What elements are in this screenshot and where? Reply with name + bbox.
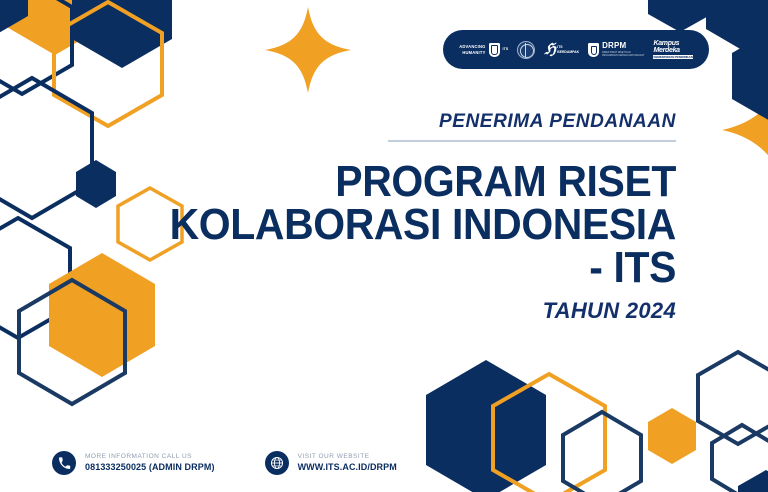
drpm-subtitle: DIREKTORAT RISET DAN PENGABDIAN KEPADA M…	[602, 51, 644, 57]
contact-phone: MORE INFORMATION CALL US 081333250025 (A…	[52, 451, 215, 475]
contact-website-text: VISIT OUR WEBSITE WWW.ITS.AC.ID/DRPM	[298, 453, 397, 474]
hexagon-navy-outline-right-1	[698, 352, 768, 444]
kampus-merdeka-ministry-bar: KEMENTERIAN PENDIDIKAN	[653, 55, 692, 59]
partner-logo-banner: ADVANCING HUMANITY ITS ℌ ITS BERDAMPAK D…	[443, 30, 709, 69]
contact-phone-label: MORE INFORMATION CALL US	[85, 453, 215, 461]
hexagon-orange-solid-bottom-right	[648, 408, 696, 464]
headline-divider	[388, 140, 676, 142]
logo-kampus-merdeka: Kampus Merdeka KEMENTERIAN PENDIDIKAN	[653, 40, 692, 60]
phone-icon	[52, 451, 76, 475]
hexagon-navy-outline-upper-left	[0, 0, 72, 94]
hexagon-navy-solid-topright-1	[648, 0, 712, 32]
its-berdampak-icon: ℌ	[544, 42, 554, 57]
title-line-1: PROGRAM RISET	[159, 160, 676, 203]
hexagon-navy-solid-topright-3	[732, 30, 768, 122]
logo-its-berdampak: ℌ ITS BERDAMPAK	[544, 42, 579, 57]
its-berdampak-label: ITS BERDAMPAK	[557, 45, 579, 54]
year-text: TAHUN 2024	[120, 300, 676, 322]
poster-canvas: ADVANCING HUMANITY ITS ℌ ITS BERDAMPAK D…	[0, 0, 768, 492]
hexagon-orange-outline-bottom-center	[493, 374, 605, 492]
hexagon-navy-corner-topleft	[0, 0, 28, 38]
hexagon-orange-solid-topleft	[5, 0, 105, 55]
hexagon-navy-solid-topright-2	[706, 0, 768, 50]
drpm-title: DRPM	[602, 42, 644, 50]
hexagon-navy-outline-bottom	[563, 412, 641, 492]
drpm-text-wrap: DRPM DIREKTORAT RISET DAN PENGABDIAN KEP…	[602, 42, 644, 57]
logo-advancing-humanity: ADVANCING HUMANITY ITS	[459, 43, 508, 57]
its-logo-label: ITS	[503, 47, 509, 52]
advancing-humanity-label: ADVANCING HUMANITY	[459, 44, 485, 55]
contact-website-value: WWW.ITS.AC.ID/DRPM	[298, 462, 397, 473]
title-line-2: KOLABORASI INDONESIA	[159, 203, 676, 246]
its-shield-icon	[489, 43, 500, 57]
hexagon-navy-solid-bottom-center	[426, 360, 546, 492]
kampus-merdeka-line2: Merdeka	[653, 47, 692, 54]
contact-website-label: VISIT OUR WEBSITE	[298, 453, 397, 461]
contact-website: VISIT OUR WEBSITE WWW.ITS.AC.ID/DRPM	[265, 451, 397, 475]
hexagon-navy-solid-small-left	[76, 160, 116, 208]
sparkle-orange-right-large	[722, 70, 768, 190]
hexagon-orange-outline-top	[54, 2, 162, 126]
hexagon-navy-solid-right-corner	[738, 470, 768, 492]
kampus-merdeka-line1: Kampus	[653, 40, 692, 47]
contact-phone-text: MORE INFORMATION CALL US 081333250025 (A…	[85, 453, 215, 474]
sparkle-orange-right	[738, 85, 768, 170]
globe-icon	[265, 451, 289, 475]
contact-phone-value: 081333250025 (ADMIN DRPM)	[85, 462, 215, 473]
drpm-shield-icon	[588, 43, 599, 57]
title-line-3: - ITS	[159, 246, 676, 289]
hexagon-navy-outline-left-middle	[0, 78, 92, 218]
headline-block: PENERIMA PENDANAAN PROGRAM RISET KOLABOR…	[120, 112, 676, 322]
globe-emblem-icon	[517, 41, 535, 59]
hexagon-navy-solid-top	[72, 0, 172, 68]
hexagon-navy-outline-right-2	[712, 425, 768, 492]
hexagon-navy-outline-over-orange	[19, 280, 125, 404]
contact-strip: MORE INFORMATION CALL US 081333250025 (A…	[52, 451, 397, 475]
hexagon-navy-outline-lower-left	[0, 218, 70, 338]
sparkle-orange-topcenter	[265, 7, 351, 93]
eyebrow-text: PENERIMA PENDANAAN	[120, 112, 676, 131]
logo-drpm: DRPM DIREKTORAT RISET DAN PENGABDIAN KEP…	[588, 42, 644, 57]
